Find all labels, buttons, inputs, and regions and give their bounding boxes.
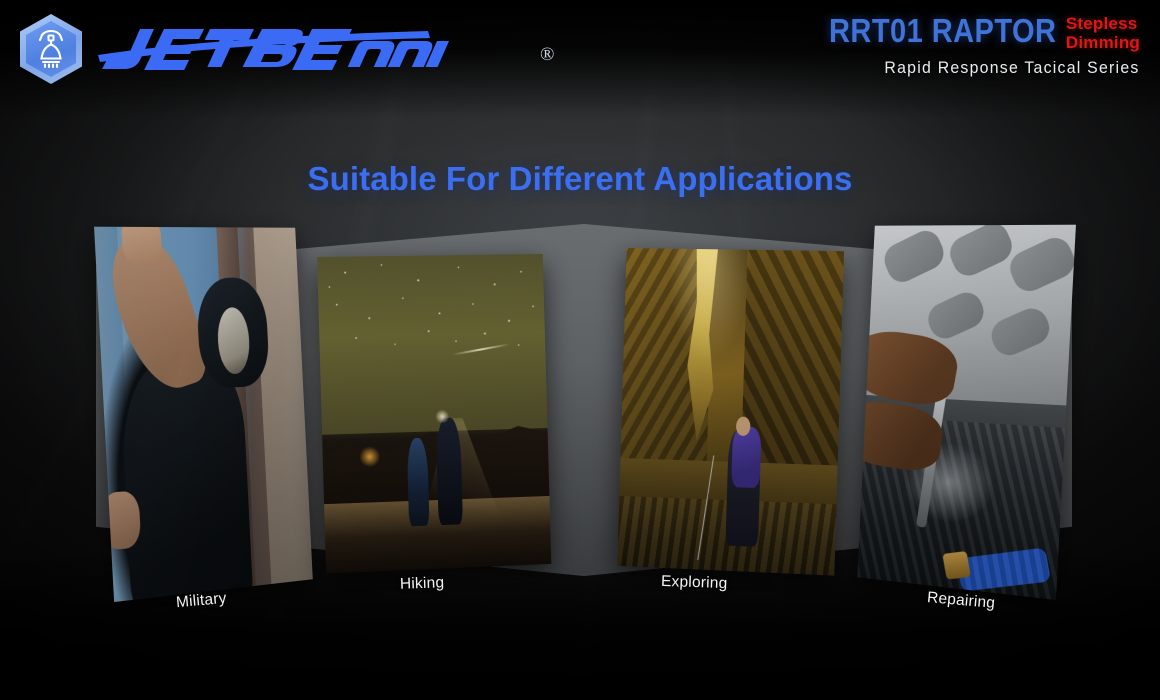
photo-military	[94, 227, 313, 602]
brand-logo: ®	[20, 14, 462, 84]
product-model-block: RRT01 RAPTOR Stepless Dimming Rapid Resp…	[798, 14, 1140, 78]
panel-caption-exploring: Exploring	[661, 573, 728, 593]
section-heading: Suitable For Different Applications	[0, 160, 1160, 198]
feature-badge: Stepless Dimming	[1066, 14, 1140, 52]
jetbeam-wordmark: ®	[92, 20, 462, 78]
application-panel-repairing[interactable]	[857, 225, 1076, 600]
applications-gallery	[0, 200, 1160, 640]
photo-hiking	[317, 254, 551, 574]
feature-line-2: Dimming	[1066, 33, 1140, 52]
model-name: RRT01 RAPTOR	[829, 14, 1056, 47]
photo-exploring	[617, 248, 844, 576]
product-tagline: Rapid Response Tacical Series	[812, 59, 1140, 78]
banner-stage: ® RRT01 RAPTOR Stepless Dimming Rapid Re…	[0, 0, 1160, 700]
application-panel-military[interactable]	[94, 227, 313, 602]
application-panel-exploring[interactable]	[617, 248, 844, 576]
feature-line-1: Stepless	[1066, 14, 1140, 33]
photo-repairing	[857, 225, 1076, 600]
registered-trademark-icon: ®	[540, 44, 554, 66]
jetbeam-hex-lamp-icon	[20, 14, 82, 84]
application-panel-hiking[interactable]	[317, 254, 551, 574]
panel-caption-hiking: Hiking	[400, 574, 445, 594]
